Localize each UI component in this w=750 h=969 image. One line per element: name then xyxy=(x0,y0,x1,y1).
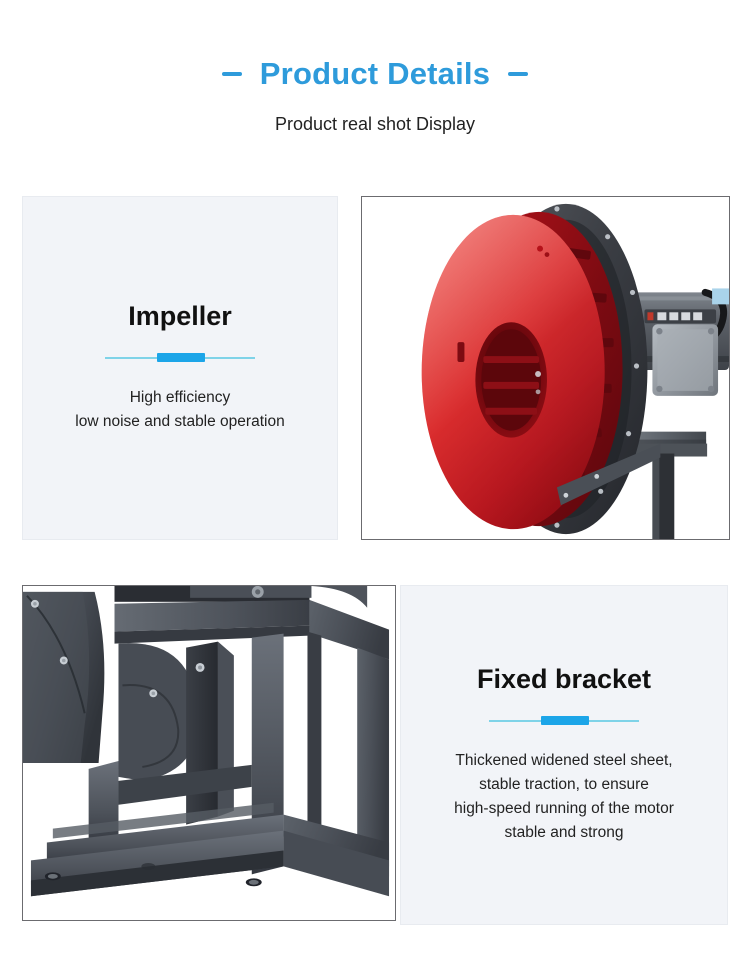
description-line: Thickened widened steel sheet, xyxy=(454,749,674,773)
bracket-illustration xyxy=(23,586,395,920)
description-line: stable traction, to ensure xyxy=(454,773,674,797)
divider-accent-bar xyxy=(541,716,589,725)
page-title: Product Details xyxy=(260,58,490,89)
impeller-illustration xyxy=(362,197,729,539)
page-title-row: Product Details xyxy=(0,58,750,89)
description-line: low noise and stable operation xyxy=(75,410,284,434)
product-photo-fixed-bracket xyxy=(22,585,396,921)
divider-accent-bar xyxy=(157,353,205,362)
product-photo-impeller xyxy=(361,196,730,540)
description-line: high-speed running of the motor xyxy=(454,797,674,821)
section-card-fixed-bracket: Fixed bracket Thickened widened steel sh… xyxy=(400,585,728,925)
section-divider-impeller xyxy=(105,353,255,362)
title-left-dash-icon xyxy=(222,72,242,76)
section-title-fixed-bracket: Fixed bracket xyxy=(477,665,651,695)
description-line: High efficiency xyxy=(75,386,284,410)
page-subtitle: Product real shot Display xyxy=(0,113,750,136)
product-details-page: Product Details Product real shot Displa… xyxy=(0,0,750,969)
section-description-impeller: High efficiency low noise and stable ope… xyxy=(75,386,284,434)
section-description-fixed-bracket: Thickened widened steel sheet, stable tr… xyxy=(454,749,674,845)
description-line: stable and strong xyxy=(454,821,674,845)
section-card-impeller: Impeller High efficiency low noise and s… xyxy=(22,196,338,540)
section-title-impeller: Impeller xyxy=(128,302,232,332)
title-right-dash-icon xyxy=(508,72,528,76)
section-divider-fixed-bracket xyxy=(489,716,639,725)
